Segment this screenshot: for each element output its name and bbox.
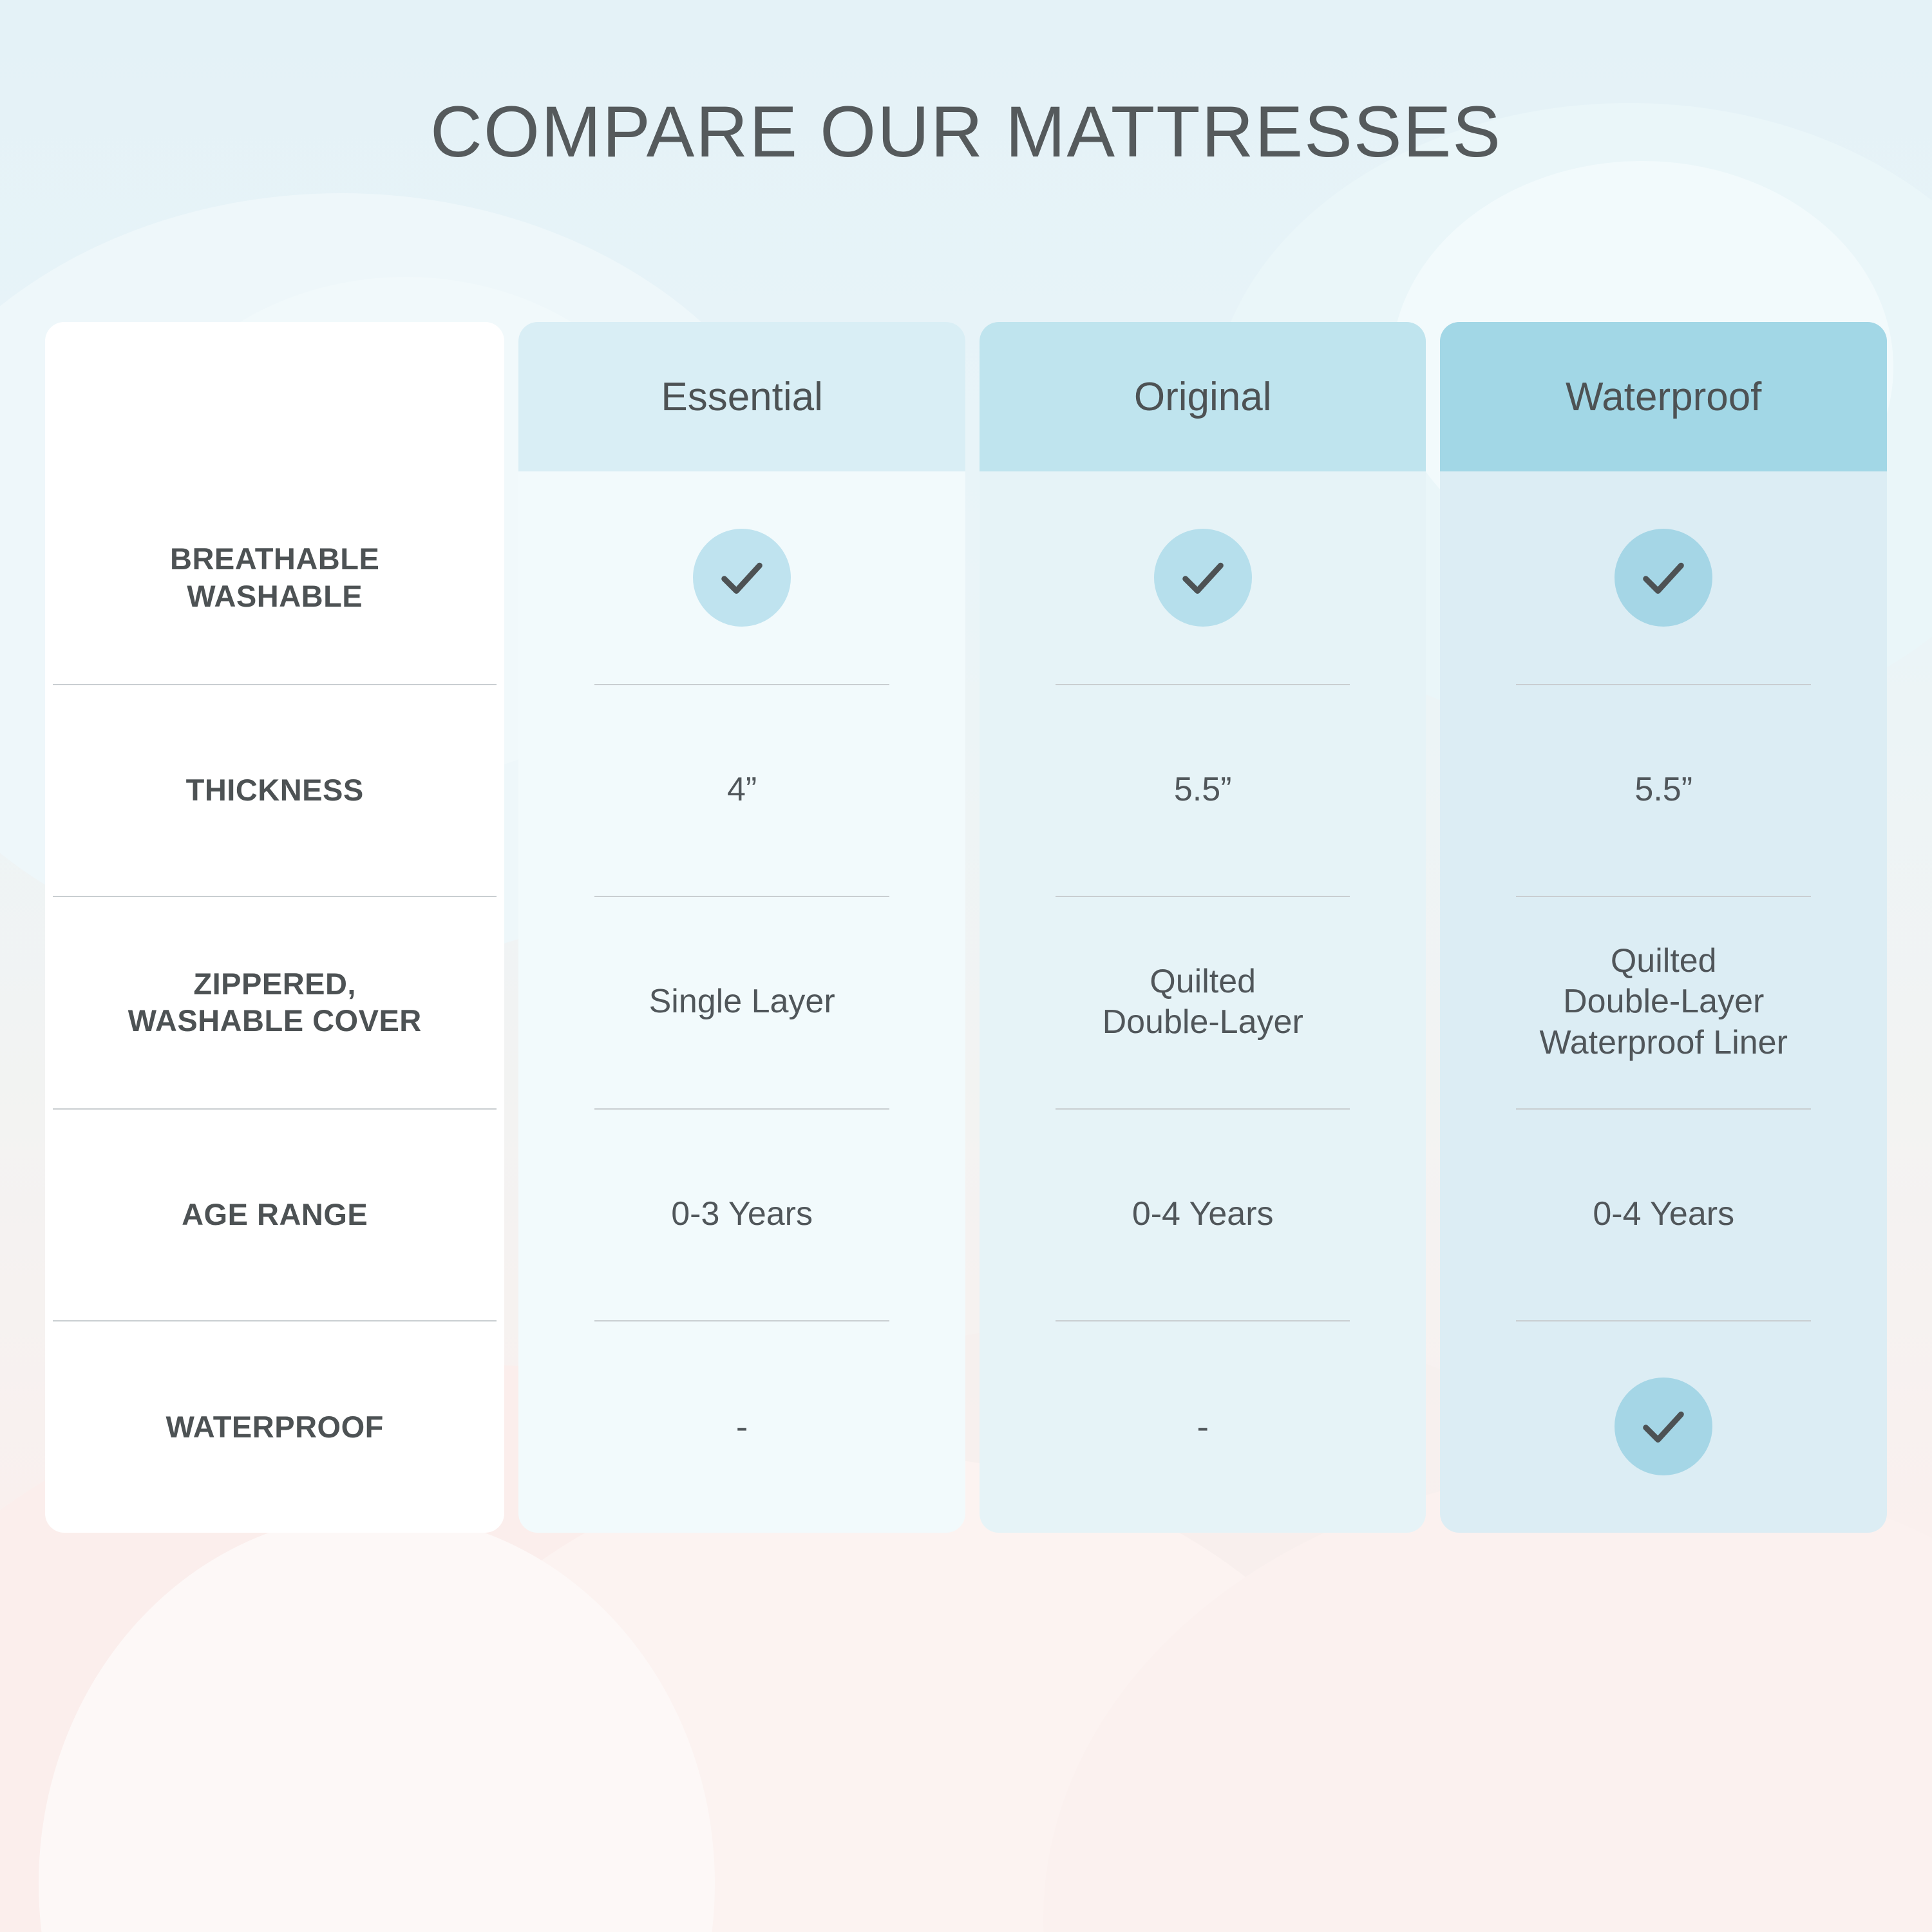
cell-waterproof-cover: QuiltedDouble-LayerWaterproof Liner <box>1440 896 1887 1108</box>
cell-value: QuiltedDouble-Layer <box>1103 961 1303 1043</box>
cell-waterproof-waterproof <box>1440 1320 1887 1533</box>
product-header-waterproof: Waterproof <box>1440 322 1887 471</box>
cell-value: 5.5” <box>1634 770 1692 810</box>
cell-waterproof-thickness: 5.5” <box>1440 684 1887 896</box>
cell-value: 4” <box>727 770 757 810</box>
cell-original-cover: QuiltedDouble-Layer <box>980 896 1426 1108</box>
feature-label-line1: AGE RANGE <box>182 1196 368 1233</box>
product-header-original: Original <box>980 322 1426 471</box>
cell-essential-breathable-washable <box>518 471 965 684</box>
cell-value: 0-4 Years <box>1593 1194 1734 1235</box>
product-body-original: 5.5” QuiltedDouble-Layer 0-4 Years - <box>980 471 1426 1533</box>
product-column-waterproof[interactable]: Waterproof 5.5” QuiltedDouble-LayerWater… <box>1440 322 1887 1533</box>
feature-row-zippered-washable-cover: ZIPPERED, WASHABLE COVER <box>45 896 504 1108</box>
cell-waterproof-age-range: 0-4 Years <box>1440 1108 1887 1321</box>
feature-label-line1: BREATHABLE <box>170 540 379 577</box>
feature-label-line1: ZIPPERED, <box>128 965 422 1002</box>
product-header-essential: Essential <box>518 322 965 471</box>
cell-value: QuiltedDouble-LayerWaterproof Liner <box>1540 941 1788 1063</box>
feature-label-column: BREATHABLE WASHABLE THICKNESS ZIPPERED, … <box>45 322 504 1533</box>
feature-row-thickness: THICKNESS <box>45 684 504 896</box>
cell-original-age-range: 0-4 Years <box>980 1108 1426 1321</box>
cloud-shape-bottom-white <box>39 1513 715 1932</box>
label-column-body: BREATHABLE WASHABLE THICKNESS ZIPPERED, … <box>45 471 504 1533</box>
check-icon <box>693 529 791 627</box>
product-column-essential[interactable]: Essential 4” Single Layer 0-3 Years <box>518 322 965 1533</box>
product-column-original[interactable]: Original 5.5” QuiltedDouble-Layer 0-4 <box>980 322 1426 1533</box>
check-icon <box>1154 529 1252 627</box>
feature-label-line2: WASHABLE <box>170 578 379 614</box>
check-icon <box>1615 529 1712 627</box>
cell-value: Single Layer <box>649 981 835 1022</box>
cell-value: - <box>1197 1405 1209 1448</box>
cell-essential-cover: Single Layer <box>518 896 965 1108</box>
comparison-table: BREATHABLE WASHABLE THICKNESS ZIPPERED, … <box>45 322 1887 1533</box>
cell-essential-thickness: 4” <box>518 684 965 896</box>
feature-row-waterproof: WATERPROOF <box>45 1320 504 1533</box>
feature-label-line1: WATERPROOF <box>166 1408 384 1445</box>
cell-original-waterproof: - <box>980 1320 1426 1533</box>
cell-value: 5.5” <box>1174 770 1232 810</box>
cloud-shape-bottom-right <box>1043 1468 1932 1932</box>
comparison-infographic: COMPARE OUR MATTRESSES BREATHABLE WASHAB… <box>0 0 1932 1932</box>
product-body-waterproof: 5.5” QuiltedDouble-LayerWaterproof Liner… <box>1440 471 1887 1533</box>
cell-value: - <box>736 1405 748 1448</box>
product-body-essential: 4” Single Layer 0-3 Years - <box>518 471 965 1533</box>
check-icon <box>1615 1378 1712 1475</box>
cell-waterproof-breathable-washable <box>1440 471 1887 684</box>
cell-essential-waterproof: - <box>518 1320 965 1533</box>
page-title: COMPARE OUR MATTRESSES <box>0 90 1932 173</box>
cell-original-breathable-washable <box>980 471 1426 684</box>
cell-value: 0-4 Years <box>1132 1194 1274 1235</box>
cell-original-thickness: 5.5” <box>980 684 1426 896</box>
feature-label-line1: THICKNESS <box>186 772 364 808</box>
feature-label-line2: WASHABLE COVER <box>128 1002 422 1039</box>
label-column-header <box>45 322 504 471</box>
feature-row-age-range: AGE RANGE <box>45 1108 504 1321</box>
feature-row-breathable-washable: BREATHABLE WASHABLE <box>45 471 504 684</box>
cell-value: 0-3 Years <box>671 1194 813 1235</box>
cell-essential-age-range: 0-3 Years <box>518 1108 965 1321</box>
